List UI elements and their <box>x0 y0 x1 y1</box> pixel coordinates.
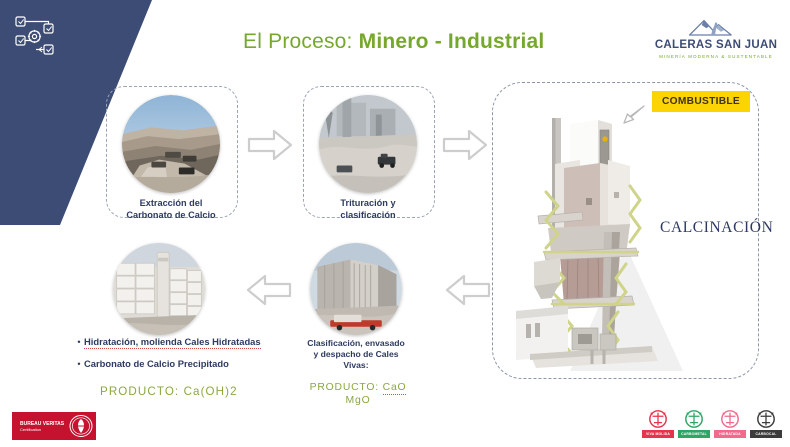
brand-badges: VIVA MOLIDA CARBOMETAL HIDRATADA <box>642 409 782 438</box>
calcination-kiln-image <box>508 106 683 371</box>
lime-badge-icon <box>717 409 743 429</box>
producto-left: PRODUCTO: Ca(OH)2 <box>100 385 238 398</box>
brand-label: HIDRATADA <box>714 430 746 438</box>
title-prefix: El Proceso: <box>243 30 359 53</box>
arrow-left-icon <box>445 273 491 312</box>
producto-right-prefix: PRODUCTO: <box>310 382 383 393</box>
stage-caption: Extracción del Carbonato de Calcio <box>94 198 248 221</box>
stage-image-quarry <box>122 95 220 193</box>
list-item: • Carbonato de Calcio Precipitado <box>74 358 299 370</box>
stage-image-packing <box>310 243 402 335</box>
page-title: El Proceso: Minero - Industrial <box>243 30 544 54</box>
lime-badge-icon <box>681 409 707 429</box>
stage-trituracion: Trituración y clasificación <box>303 86 433 216</box>
bureau-veritas-logo: BUREAU VERITAS Certification <box>12 412 96 440</box>
arrow-right-icon <box>247 128 293 167</box>
stage-caption: Trituración y clasificación <box>291 198 445 221</box>
producto-right-mgo: MgO <box>288 394 428 407</box>
brand-label: CARBOCAL <box>750 430 782 438</box>
arrow-right-icon <box>442 128 488 167</box>
brand-badge: HIDRATADA <box>714 409 746 438</box>
mountain-icon <box>688 16 744 38</box>
title-bold: Minero - Industrial <box>359 30 545 53</box>
brand-label: CARBOMETAL <box>678 430 710 438</box>
brand-badge: CARBOCAL <box>750 409 782 438</box>
company-logo: CALERAS SAN JUAN MINERÍA MODERNA & SUSTE… <box>654 16 778 59</box>
brand-badge: VIVA MOLIDA <box>642 409 674 438</box>
process-flow-icon <box>14 14 64 62</box>
brand-label: VIVA MOLIDA <box>642 430 674 438</box>
list-item: • Hidratación, molienda Cales Hidratadas <box>74 336 299 349</box>
stage-image-hydrated-lime <box>113 243 205 335</box>
stage-caption-clasificacion: Clasificación, envasado y despacho de Ca… <box>295 338 417 372</box>
logo-tagline: MINERÍA MODERNA & SUSTENTABLE <box>654 54 778 59</box>
stage-image-crushing <box>319 95 417 193</box>
hidratacion-bullet-list: • Hidratación, molienda Cales Hidratadas… <box>74 336 299 379</box>
stage-hidratacion <box>106 243 212 349</box>
logo-name: CALERAS SAN JUAN <box>654 39 778 52</box>
lime-badge-icon <box>753 409 779 429</box>
brand-badge: CARBOMETAL <box>678 409 710 438</box>
lime-badge-icon <box>645 409 671 429</box>
bullet-text: Carbonato de Calcio Precipitado <box>84 358 229 369</box>
svg-text:Certification: Certification <box>20 427 41 432</box>
calcinacion-label: CALCINACIÓN <box>660 219 773 237</box>
slide-canvas: El Proceso: Minero - Industrial CALERAS … <box>0 0 790 447</box>
fuel-feed-arrow-icon <box>620 104 646 131</box>
bullet-marker: • <box>74 336 84 348</box>
bullet-marker: • <box>74 358 84 370</box>
stage-extraccion: Extracción del Carbonato de Calcio <box>106 86 236 216</box>
producto-right-cao: CaO <box>383 382 407 395</box>
arrow-left-icon <box>246 273 292 312</box>
producto-right: PRODUCTO: CaO MgO <box>288 381 428 407</box>
bullet-text: Hidratación, molienda Cales Hidratadas <box>84 336 261 349</box>
combustible-badge: COMBUSTIBLE <box>652 91 750 112</box>
stage-clasificacion-envasado <box>303 243 409 349</box>
